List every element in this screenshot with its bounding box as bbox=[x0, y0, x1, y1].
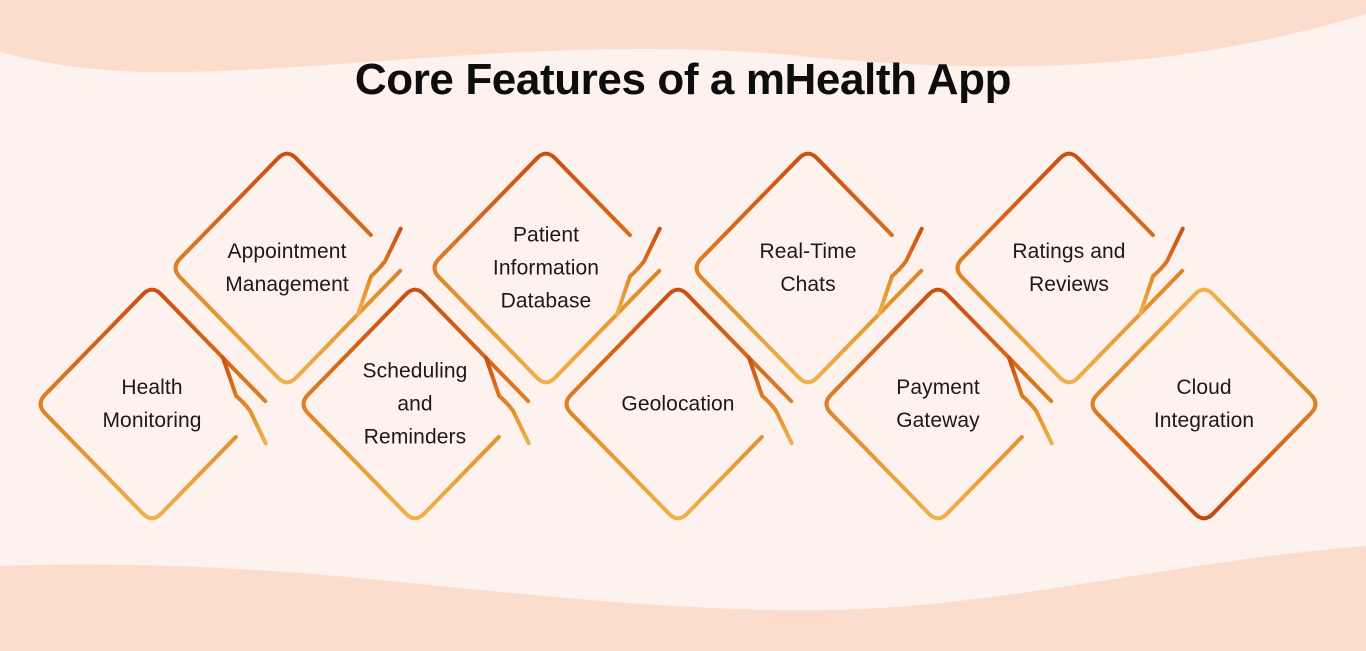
diamond-payment-gateway[interactable] bbox=[827, 290, 1052, 519]
connector-elbow-payment-gateway bbox=[1009, 358, 1052, 444]
connector-elbow-geolocation bbox=[749, 358, 792, 444]
connector-elbow-patient-information-database bbox=[617, 229, 660, 315]
connector-elbow-real-time-chats bbox=[879, 229, 922, 315]
diamond-nodes bbox=[41, 154, 1316, 519]
connector-elbow-health-monitoring bbox=[223, 358, 266, 444]
diamond-scheduling-and-reminders[interactable] bbox=[304, 290, 529, 519]
diamond-ratings-and-reviews[interactable] bbox=[958, 154, 1183, 383]
diamond-geolocation[interactable] bbox=[567, 290, 792, 519]
diamond-cloud-integration[interactable] bbox=[1093, 290, 1316, 519]
diamond-real-time-chats[interactable] bbox=[697, 154, 922, 383]
diamond-health-monitoring[interactable] bbox=[41, 290, 266, 519]
diamond-patient-information-database[interactable] bbox=[435, 154, 660, 383]
connector-elbow-ratings-and-reviews bbox=[1140, 229, 1183, 315]
infographic-canvas: Core Features of a mHealth App Health Mo… bbox=[0, 0, 1366, 651]
diamond-chain-diagram bbox=[0, 0, 1366, 651]
diamond-appointment-management[interactable] bbox=[176, 154, 401, 383]
connector-elbow-appointment-management bbox=[358, 229, 401, 315]
connector-elbow-scheduling-and-reminders bbox=[486, 358, 529, 444]
